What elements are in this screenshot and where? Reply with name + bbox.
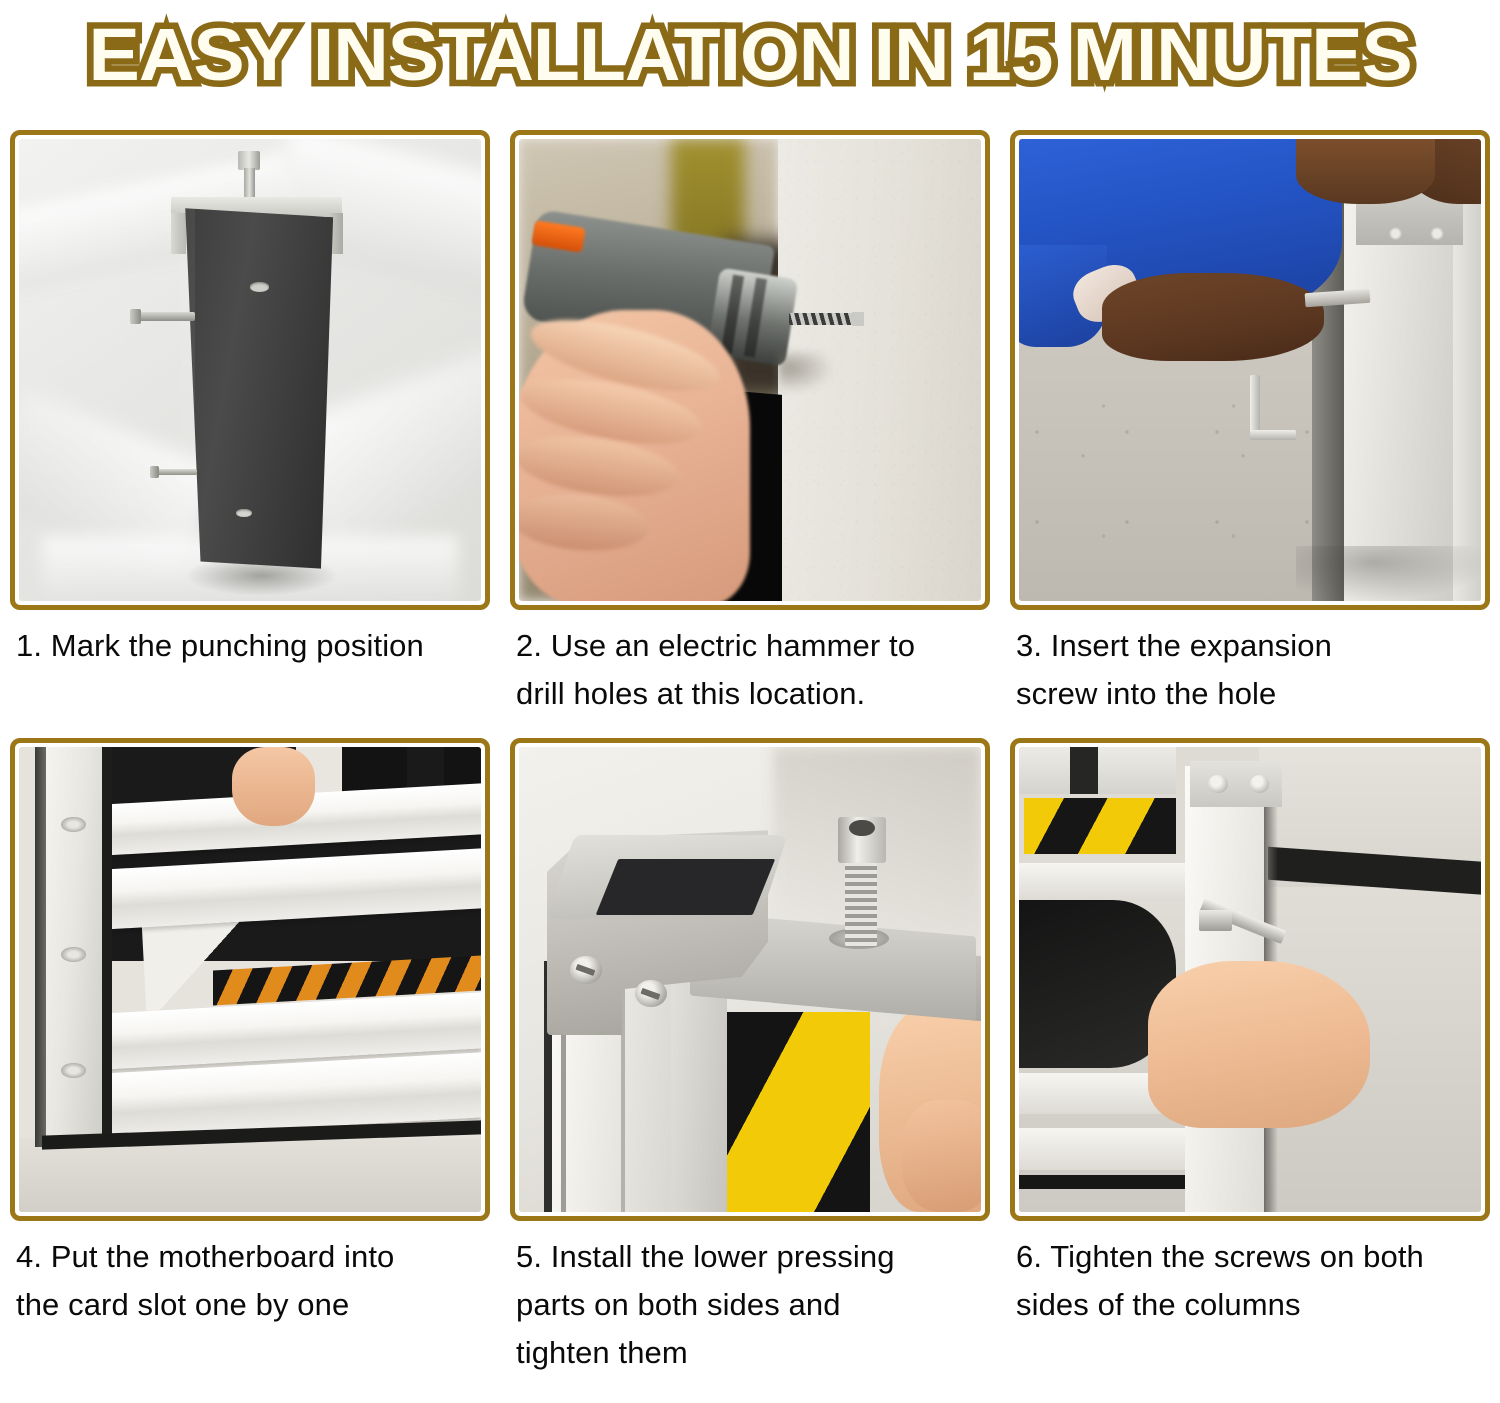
step-card-6: 6. Tighten the screws on both sides of t… — [1000, 718, 1500, 1377]
installation-steps-grid: 1. Mark the punching position — [0, 110, 1500, 1377]
mounting-hole-icon — [236, 509, 252, 517]
column-edge — [181, 208, 195, 568]
warning-tape-stripe — [1024, 798, 1176, 854]
step-card-5: 5. Install the lower pressing parts on b… — [500, 718, 1000, 1377]
base-rail — [1019, 1175, 1190, 1189]
step-caption-3: 3. Insert the expansion screw into the h… — [1010, 610, 1490, 718]
column-right-edge — [102, 747, 112, 1147]
column-body — [181, 208, 333, 568]
hand-icon — [1148, 961, 1370, 1128]
step-card-1: 1. Mark the punching position — [0, 110, 500, 718]
step-card-4: 4. Put the motherboard into the card slo… — [0, 718, 500, 1377]
step-photo-3 — [1019, 139, 1481, 601]
step-photo-6 — [1019, 747, 1481, 1212]
card-slot-hole-icon — [61, 947, 86, 962]
arm-icon — [1102, 273, 1324, 361]
metal-pin-icon — [132, 312, 194, 321]
step-caption-6: 6. Tighten the screws on both sides of t… — [1010, 1221, 1490, 1329]
screw-icon — [1208, 775, 1227, 794]
card-slot-hole-icon — [61, 817, 86, 832]
step-photo-1 — [19, 139, 481, 601]
allen-key-icon — [1250, 430, 1296, 440]
step-photo-frame-1 — [10, 130, 490, 610]
header-banner: EASY INSTALLATION IN 15 MINUTES — [0, 0, 1500, 110]
step-photo-5 — [519, 747, 981, 1212]
rack-dark-gap — [1070, 747, 1098, 794]
finger-icon — [902, 1100, 981, 1212]
drill-bit-tip — [852, 312, 864, 326]
step-photo-frame-3 — [1010, 130, 1490, 610]
metal-pin-icon — [153, 469, 197, 475]
column-left-edge — [35, 747, 46, 1147]
drill-dust — [778, 352, 833, 394]
shelf-panel — [1019, 1128, 1185, 1170]
step-photo-4 — [19, 747, 481, 1212]
step-photo-frame-5 — [510, 738, 990, 1221]
mounting-hole-icon — [250, 282, 269, 292]
bolt-thread-icon — [845, 854, 877, 947]
step-caption-2: 2. Use an electric hammer to drill holes… — [510, 610, 990, 718]
warning-tape-stripe — [722, 1012, 870, 1212]
rack-top — [1019, 747, 1176, 794]
step-card-2: 2. Use an electric hammer to drill holes… — [500, 110, 1000, 718]
hand-icon — [232, 747, 315, 826]
step-caption-4: 4. Put the motherboard into the card slo… — [10, 1221, 490, 1329]
shelf-panel — [1019, 863, 1185, 900]
step-photo-2 — [519, 139, 981, 601]
step-photo-frame-4 — [10, 738, 490, 1221]
metal-pin-tip — [130, 309, 141, 324]
drop-shadow — [1296, 546, 1481, 601]
step-card-3: 3. Insert the expansion screw into the h… — [1000, 110, 1500, 718]
step-caption-5: 5. Install the lower pressing parts on b… — [510, 1221, 990, 1377]
drill-bit-icon — [789, 313, 854, 325]
screw-icon — [1430, 227, 1444, 240]
screw-icon — [1389, 227, 1403, 240]
bolt-hex-socket — [849, 820, 874, 837]
step-photo-frame-2 — [510, 130, 990, 610]
step-photo-frame-6 — [1010, 738, 1490, 1221]
card-slot-hole-icon — [61, 1063, 86, 1078]
page-title: EASY INSTALLATION IN 15 MINUTES — [88, 16, 1411, 94]
step-caption-1: 1. Mark the punching position — [10, 610, 490, 670]
metal-pin-tip — [150, 466, 159, 478]
screwdriver-head — [1199, 910, 1231, 931]
hand-icon — [1296, 139, 1435, 204]
floor-surface — [19, 1138, 481, 1212]
bracket-slot — [595, 859, 775, 915]
